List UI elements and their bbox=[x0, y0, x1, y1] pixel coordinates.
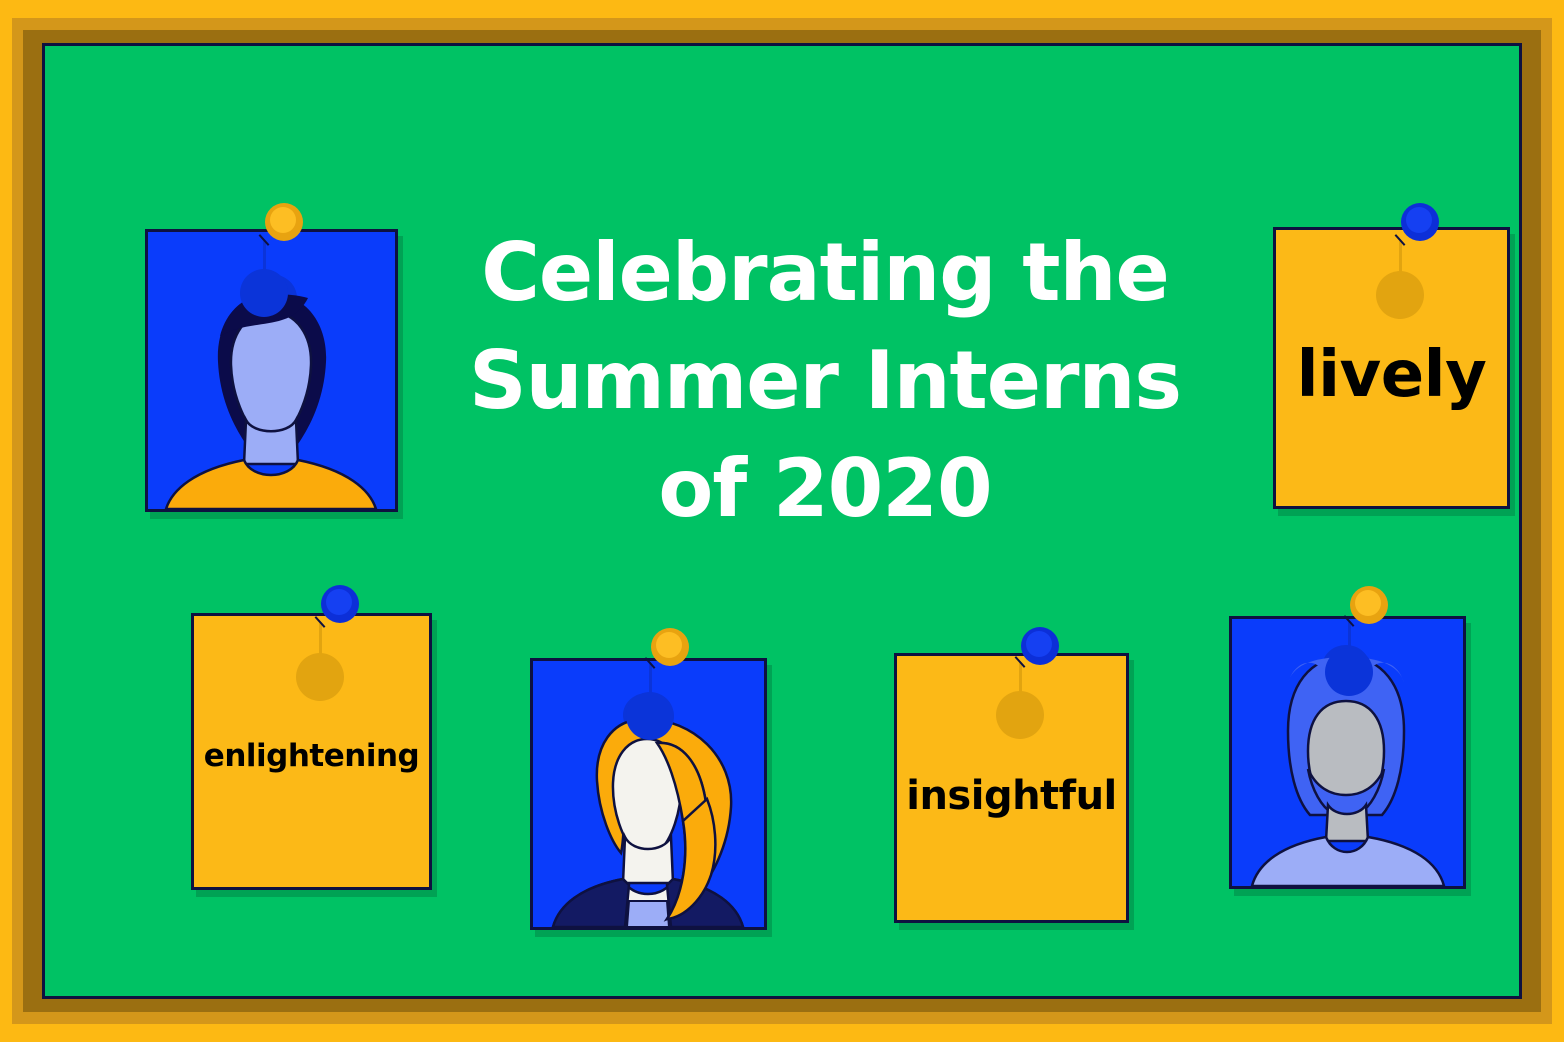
frame-keyline: Celebrating the Summer Interns of 2020 bbox=[42, 43, 1522, 999]
intern-photo-card-3[interactable] bbox=[1229, 616, 1466, 889]
intern-photo-card-1[interactable] bbox=[145, 229, 398, 512]
note-label-enlightening: enlightening bbox=[194, 738, 429, 774]
pin-stem-2 bbox=[649, 664, 652, 702]
frame-layer-olive: Celebrating the Summer Interns of 2020 bbox=[23, 30, 1541, 1012]
pin-stem-enlightening bbox=[319, 623, 322, 663]
pushpin-gold-icon-2[interactable] bbox=[651, 628, 689, 666]
poster-root: Celebrating the Summer Interns of 2020 bbox=[0, 0, 1564, 1042]
intern-photo-card-2[interactable] bbox=[530, 658, 767, 930]
pushpin-blue-icon-lively[interactable] bbox=[1401, 203, 1439, 241]
sticky-note-enlightening[interactable]: enlightening bbox=[191, 613, 432, 890]
note-label-lively: lively bbox=[1276, 338, 1507, 412]
sticky-note-lively[interactable]: lively bbox=[1273, 227, 1510, 509]
pin-stem-lively bbox=[1399, 241, 1402, 281]
pushpin-gold-icon-3[interactable] bbox=[1350, 586, 1388, 624]
pin-stem-1 bbox=[263, 241, 266, 281]
page-title-line-3: of 2020 bbox=[445, 435, 1205, 543]
page-title: Celebrating the Summer Interns of 2020 bbox=[445, 219, 1205, 543]
pushpin-blue-icon-enlightening[interactable] bbox=[321, 585, 359, 623]
cork-board: Celebrating the Summer Interns of 2020 bbox=[45, 46, 1519, 996]
page-title-line-2: Summer Interns bbox=[445, 327, 1205, 435]
page-title-line-1: Celebrating the bbox=[445, 219, 1205, 327]
pushpin-blue-icon-insightful[interactable] bbox=[1021, 627, 1059, 665]
pin-stem-insightful bbox=[1019, 663, 1022, 701]
note-surface-lively: lively bbox=[1273, 227, 1510, 509]
frame-layer-gold: Celebrating the Summer Interns of 2020 bbox=[12, 18, 1552, 1024]
sticky-note-insightful[interactable]: insightful bbox=[894, 653, 1129, 923]
pin-stem-3 bbox=[1348, 622, 1351, 658]
note-label-insightful: insightful bbox=[897, 773, 1126, 819]
pushpin-gold-icon-1[interactable] bbox=[265, 203, 303, 241]
